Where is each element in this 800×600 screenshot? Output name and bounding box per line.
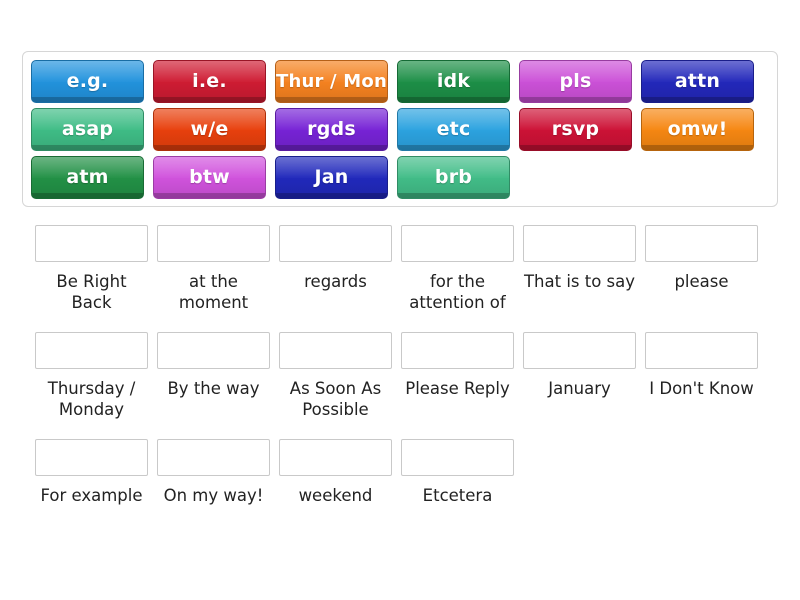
drop-zone[interactable] [645, 225, 758, 262]
tile-jan[interactable]: Jan [275, 156, 388, 199]
drop-zone[interactable] [279, 332, 392, 369]
answer-label: As Soon As Possible [279, 378, 392, 420]
answer-cell: That is to say [523, 225, 636, 313]
drop-zone[interactable] [523, 225, 636, 262]
answer-label: please [645, 271, 758, 292]
answer-row: Be Right Backat the momentregardsfor the… [35, 225, 775, 313]
tile-omw[interactable]: omw! [641, 108, 754, 151]
answer-label: Thursday / Monday [35, 378, 148, 420]
answer-label: For example [35, 485, 148, 506]
answer-label: On my way! [157, 485, 270, 506]
answer-label: at the moment [157, 271, 270, 313]
tile-asap[interactable]: asap [31, 108, 144, 151]
drop-zone[interactable] [157, 225, 270, 262]
answer-label: Be Right Back [35, 271, 148, 313]
answer-cell: January [523, 332, 636, 420]
tile-label: Jan [314, 168, 348, 187]
tile-label: idk [437, 72, 470, 91]
drop-zone[interactable] [401, 439, 514, 476]
answer-label: Etcetera [401, 485, 514, 506]
tile-ie[interactable]: i.e. [153, 60, 266, 103]
tile-row: e.g.i.e.Thur / Monidkplsattn [31, 60, 769, 103]
answer-cell: regards [279, 225, 392, 313]
tile-label: rgds [307, 120, 356, 139]
tile-label: omw! [668, 120, 728, 139]
answer-cell: please [645, 225, 758, 313]
drop-zone[interactable] [157, 439, 270, 476]
answer-label: Please Reply [401, 378, 514, 399]
tile-tray: e.g.i.e.Thur / Monidkplsattnasapw/ergdse… [22, 51, 778, 207]
tile-label: w/e [191, 120, 229, 139]
drop-zone[interactable] [157, 332, 270, 369]
answer-cell: For example [35, 439, 148, 506]
answer-cell: for the attention of [401, 225, 514, 313]
answer-area: Be Right Backat the momentregardsfor the… [35, 225, 775, 526]
answer-cell: I Don't Know [645, 332, 758, 420]
tile-label: rsvp [552, 120, 599, 139]
drop-zone[interactable] [35, 439, 148, 476]
tile-eg[interactable]: e.g. [31, 60, 144, 103]
tile-label: etc [437, 120, 471, 139]
tile-thur-mon[interactable]: Thur / Mon [275, 60, 388, 103]
tile-rsvp[interactable]: rsvp [519, 108, 632, 151]
answer-label: weekend [279, 485, 392, 506]
answer-cell: By the way [157, 332, 270, 420]
drop-zone[interactable] [35, 225, 148, 262]
answer-cell: Be Right Back [35, 225, 148, 313]
tile-atm[interactable]: atm [31, 156, 144, 199]
tile-label: brb [435, 168, 472, 187]
tile-label: attn [675, 72, 720, 91]
answer-label: I Don't Know [645, 378, 758, 399]
answer-label: for the attention of [401, 271, 514, 313]
answer-cell: On my way! [157, 439, 270, 506]
answer-label: January [523, 378, 636, 399]
drop-zone[interactable] [279, 225, 392, 262]
tile-label: asap [62, 120, 113, 139]
answer-label: regards [279, 271, 392, 292]
drop-zone[interactable] [401, 225, 514, 262]
answer-cell: weekend [279, 439, 392, 506]
tile-btw[interactable]: btw [153, 156, 266, 199]
tile-etc[interactable]: etc [397, 108, 510, 151]
tile-label: btw [189, 168, 230, 187]
tile-rgds[interactable]: rgds [275, 108, 388, 151]
drop-zone[interactable] [645, 332, 758, 369]
answer-row: Thursday / MondayBy the wayAs Soon As Po… [35, 332, 775, 420]
tile-idk[interactable]: idk [397, 60, 510, 103]
answer-label: That is to say [523, 271, 636, 292]
tile-label: e.g. [67, 72, 109, 91]
drop-zone[interactable] [401, 332, 514, 369]
answer-row: For exampleOn my way!weekendEtcetera [35, 439, 775, 506]
tile-label: pls [559, 72, 591, 91]
tile-label: Thur / Mon [276, 73, 387, 91]
tile-label: atm [66, 168, 108, 187]
answer-cell: Thursday / Monday [35, 332, 148, 420]
tile-attn[interactable]: attn [641, 60, 754, 103]
answer-label: By the way [157, 378, 270, 399]
drop-zone[interactable] [523, 332, 636, 369]
answer-cell: Etcetera [401, 439, 514, 506]
tile-row: atmbtwJanbrb [31, 156, 769, 199]
drop-zone[interactable] [279, 439, 392, 476]
tile-label: i.e. [192, 72, 227, 91]
tile-brb[interactable]: brb [397, 156, 510, 199]
answer-cell: As Soon As Possible [279, 332, 392, 420]
drop-zone[interactable] [35, 332, 148, 369]
tile-we[interactable]: w/e [153, 108, 266, 151]
tile-pls[interactable]: pls [519, 60, 632, 103]
tile-row: asapw/ergdsetcrsvpomw! [31, 108, 769, 151]
answer-cell: Please Reply [401, 332, 514, 420]
answer-cell: at the moment [157, 225, 270, 313]
